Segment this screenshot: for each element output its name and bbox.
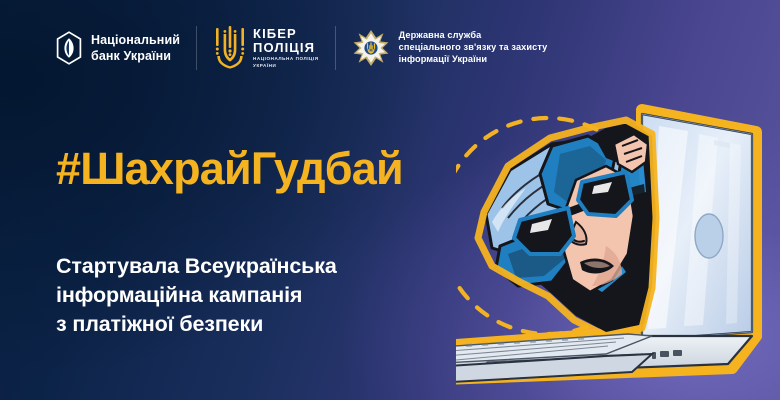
cyber-police-text-block: КІБЕР ПОЛІЦІЯ НАЦІОНАЛЬНА ПОЛІЦІЯ УКРАЇН… — [253, 27, 319, 69]
campaign-hashtag-headline: #ШахрайГудбай — [56, 146, 403, 191]
ukrainian-trident-icon — [213, 25, 247, 71]
logo-national-bank-of-ukraine: Національний банк України — [56, 31, 180, 65]
logo-divider-2 — [335, 26, 336, 70]
logo-national-bank-label: Національний банк України — [91, 32, 180, 64]
fraudster-character — [478, 120, 656, 336]
logo-divider-1 — [196, 26, 197, 70]
logo-state-service-special-communication: Державна служба спеціального зв'язку та … — [352, 28, 548, 68]
partner-logo-row: Національний банк України — [56, 25, 547, 71]
cyber-police-subline: НАЦІОНАЛЬНА ПОЛІЦІЯ УКРАЇНИ — [253, 56, 319, 68]
cyber-police-line-2: ПОЛІЦІЯ — [253, 41, 319, 55]
campaign-subtitle: Стартувала Всеукраїнська інформаційна ка… — [56, 252, 337, 338]
nbu-hryvnia-mark-icon — [56, 31, 82, 65]
cyber-police-line-1: КІБЕР — [253, 27, 319, 41]
fraudster-laptop-illustration: •••• — [456, 96, 780, 400]
screen-reflection — [695, 214, 723, 258]
sscip-cross-emblem-icon — [352, 28, 390, 68]
logo-cyber-police: КІБЕР ПОЛІЦІЯ НАЦІОНАЛЬНА ПОЛІЦІЯ УКРАЇН… — [213, 25, 319, 71]
logo-sscip-label: Державна служба спеціального зв'язку та … — [399, 30, 548, 66]
campaign-banner: Національний банк України — [0, 0, 780, 400]
